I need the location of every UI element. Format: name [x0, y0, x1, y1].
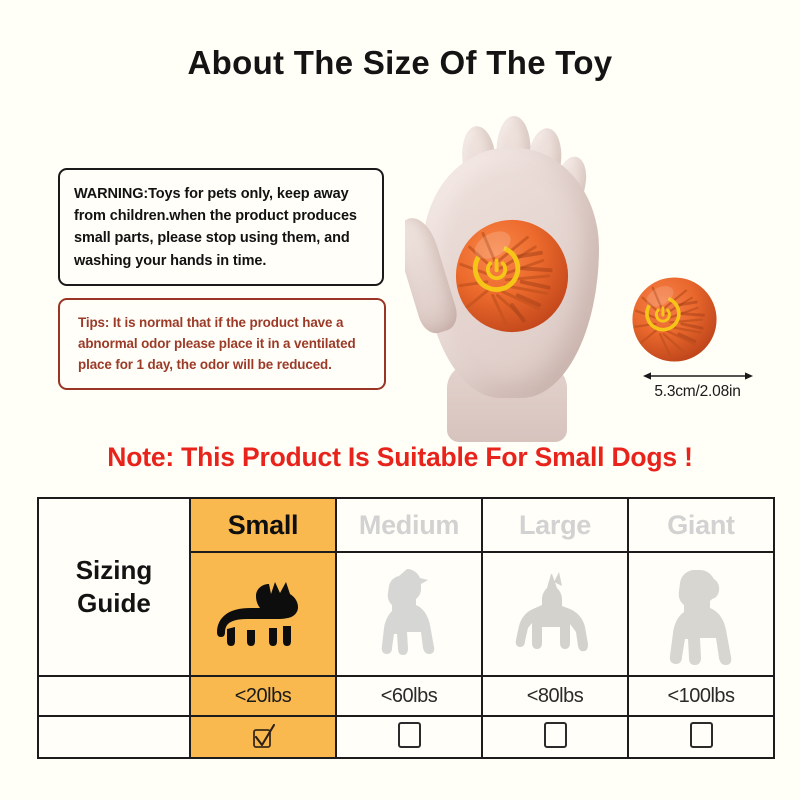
header-cell-giant[interactable]: Giant [628, 498, 774, 552]
checkbox-unchecked-icon[interactable] [544, 722, 567, 748]
weight-label-medium: <60lbs [381, 685, 438, 707]
weight-label-giant: <100lbs [667, 685, 734, 707]
weight-label-large: <80lbs [527, 685, 584, 707]
ball-measurement: 5.3cm/2.08in [620, 370, 775, 401]
checkbox-cell-blank [38, 716, 190, 758]
weight-cell-large: <80lbs [482, 676, 628, 716]
measurement-label: 5.3cm/2.08in [620, 383, 775, 401]
weight-cell-giant: <100lbs [628, 676, 774, 716]
weight-cell-small: <20lbs [190, 676, 336, 716]
dog-cell-large [482, 552, 628, 676]
toy-ball-large [454, 218, 570, 334]
sitting-retriever-silhouette-icon [663, 562, 739, 666]
corgi-silhouette-icon [215, 578, 311, 650]
dog-cell-medium [336, 552, 482, 676]
sizing-guide-line1: Sizing [39, 554, 189, 587]
sizing-guide-line2: Guide [39, 587, 189, 620]
warning-text: WARNING:Toys for pets only, keep away fr… [74, 183, 368, 272]
sitting-dog-silhouette-icon [377, 566, 441, 662]
measure-arrow-icon [642, 370, 754, 382]
checkbox-unchecked-icon[interactable] [398, 722, 421, 748]
note-line: Note: This Product Is Suitable For Small… [0, 442, 800, 473]
dog-cell-small [190, 552, 336, 676]
checkbox-cell-small[interactable] [190, 716, 336, 758]
page-title: About The Size Of The Toy [0, 44, 800, 82]
weight-label-small: <20lbs [235, 685, 292, 707]
table-row-header: Sizing Guide Small Medium Large Giant [38, 498, 774, 552]
header-cell-medium[interactable]: Medium [336, 498, 482, 552]
table-row-checkboxes [38, 716, 774, 758]
table-row-weights: <20lbs <60lbs <80lbs <100lbs [38, 676, 774, 716]
tips-box: Tips: It is normal that if the product h… [58, 298, 386, 390]
header-cell-large[interactable]: Large [482, 498, 628, 552]
checkbox-cell-medium[interactable] [336, 716, 482, 758]
sizing-guide-label-cell: Sizing Guide [38, 498, 190, 676]
toy-ball-large-icon [454, 218, 570, 334]
weight-cell-blank [38, 676, 190, 716]
checkbox-checked-icon[interactable] [250, 724, 276, 750]
dog-cell-giant [628, 552, 774, 676]
size-label-small: Small [228, 510, 299, 540]
size-label-medium: Medium [359, 510, 459, 540]
checkbox-cell-giant[interactable] [628, 716, 774, 758]
weight-cell-medium: <60lbs [336, 676, 482, 716]
toy-ball-small [631, 276, 718, 363]
size-label-large: Large [519, 510, 591, 540]
standing-shepherd-silhouette-icon [515, 566, 595, 662]
header-cell-small[interactable]: Small [190, 498, 336, 552]
tips-text: Tips: It is normal that if the product h… [78, 312, 370, 376]
toy-ball-small-icon [631, 276, 718, 363]
warning-box: WARNING:Toys for pets only, keep away fr… [58, 168, 384, 286]
checkbox-cell-large[interactable] [482, 716, 628, 758]
size-label-giant: Giant [667, 510, 735, 540]
checkbox-unchecked-icon[interactable] [690, 722, 713, 748]
sizing-guide-table: Sizing Guide Small Medium Large Giant [37, 497, 775, 759]
